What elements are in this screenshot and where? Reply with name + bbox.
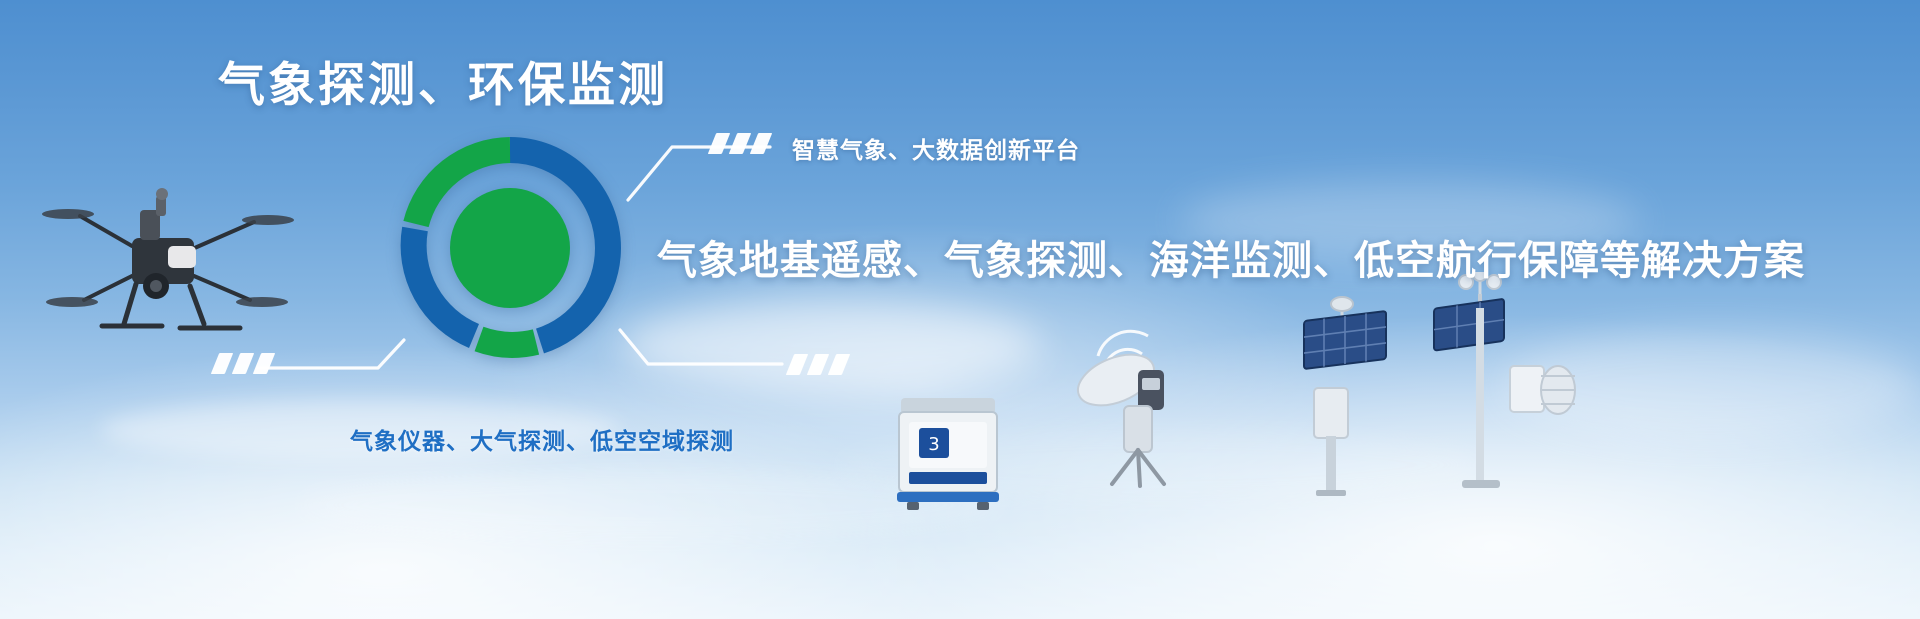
svg-text:3: 3 — [928, 434, 939, 455]
cloud-decoration — [620, 300, 1040, 390]
callout-bottom-label: 气象仪器、大气探测、低空空域探测 — [350, 422, 734, 456]
connector-line-bottom-right — [620, 330, 782, 364]
page-title: 气象探测、环保监测 — [218, 46, 668, 115]
automatic-weather-station-with-anemometer — [1410, 272, 1590, 500]
banner-hero: 3 — [0, 0, 1920, 619]
callout-top-label: 智慧气象、大数据创新平台 — [792, 131, 1080, 165]
slash-accent-bottom-right — [790, 354, 846, 375]
slash-accent-bottom-left — [215, 353, 271, 374]
dish-antenna-on-tripod — [1062, 322, 1202, 490]
main-solution-line: 气象地基遥感、气象探测、海洋监测、低空航行保障等解决方案 — [657, 228, 1805, 286]
connector-line-top — [628, 147, 770, 200]
donut-ring-logo — [390, 128, 630, 368]
laser-radar-instrument-case: 3 — [893, 392, 1003, 510]
solar-powered-monitoring-station — [1280, 296, 1410, 496]
quadcopter-drone — [40, 150, 300, 350]
slash-accent-top — [712, 133, 768, 154]
